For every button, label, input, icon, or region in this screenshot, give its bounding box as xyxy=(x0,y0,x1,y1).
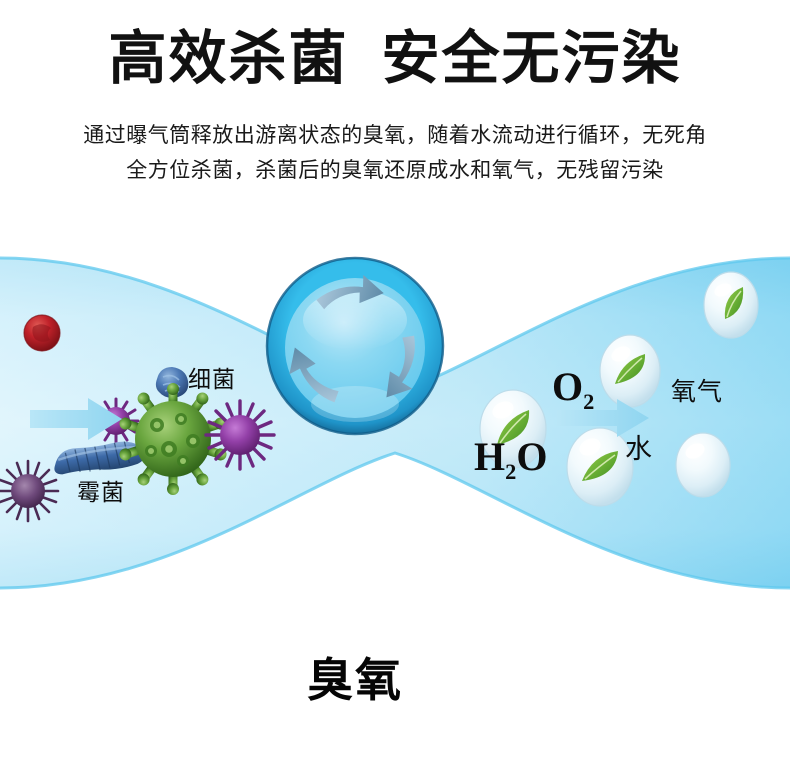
page-subtitle: 通过曝气筒释放出游离状态的臭氧，随着水流动进行循环，无死角 全方位杀菌，杀菌后的… xyxy=(0,118,790,187)
subtitle-line-2: 全方位杀菌，杀菌后的臭氧还原成水和氧气，无残留污染 xyxy=(0,153,790,188)
label-oxygen-formula: O2 xyxy=(552,367,594,413)
water-formula-o: O xyxy=(516,434,547,479)
microbe-red-icon xyxy=(24,315,60,351)
microbe-purple-spiky-icon xyxy=(206,401,274,469)
water-formula-subscript: 2 xyxy=(505,459,516,484)
page-title: 高效杀菌 安全无污染 xyxy=(0,26,790,93)
leaf-bubble-icon xyxy=(704,272,758,338)
water-bubble-icon xyxy=(676,433,730,497)
diagram-canvas xyxy=(0,243,790,603)
oxygen-formula-subscript: 2 xyxy=(583,389,594,414)
label-oxygen-cn: 氧气 xyxy=(671,380,723,405)
ozone-core: 臭氧 xyxy=(267,589,443,765)
label-water-formula: H2O xyxy=(474,437,547,483)
mold-spore-icon xyxy=(0,461,58,521)
water-formula-h: H xyxy=(474,434,505,479)
oxygen-formula-symbol: O xyxy=(552,364,583,409)
sterilization-diagram: 臭氧 xyxy=(0,243,790,603)
label-bacteria: 细菌 xyxy=(188,368,236,391)
ozone-label: 臭氧 xyxy=(267,589,443,765)
label-mold: 霉菌 xyxy=(77,481,125,504)
subtitle-line-1: 通过曝气筒释放出游离状态的臭氧，随着水流动进行循环，无死角 xyxy=(0,118,790,153)
leaf-bubble-icon xyxy=(600,335,660,407)
leaf-bubble-icon xyxy=(567,428,633,506)
label-water-cn: 水 xyxy=(625,436,653,463)
ozone-sphere xyxy=(267,258,443,434)
